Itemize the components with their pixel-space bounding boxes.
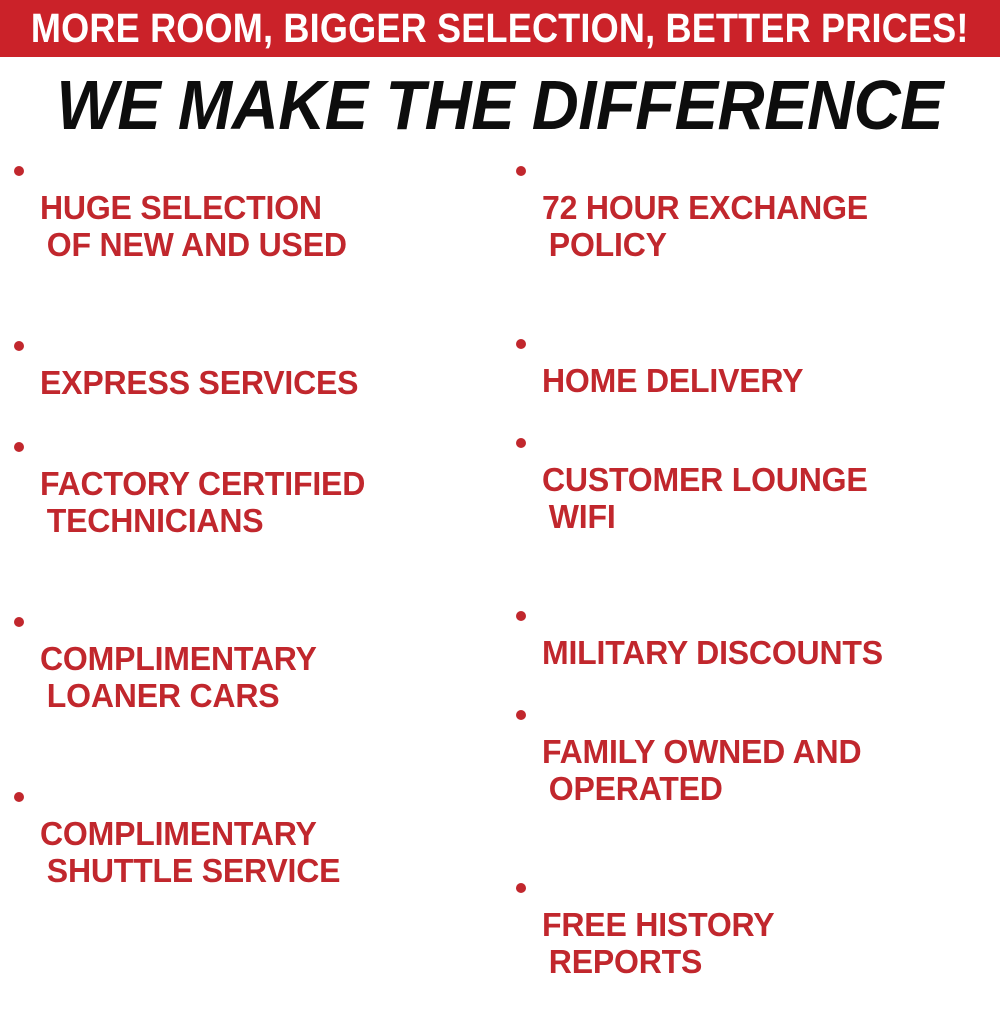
list-item-label: 72 HOUR EXCHANGE POLICY — [542, 152, 868, 300]
list-item-label: CUSTOMER LOUNGE WIFI — [542, 424, 868, 572]
list-item-line2: REPORTS — [542, 943, 774, 980]
bullet-dot-icon — [14, 617, 24, 627]
list-item-label: EXPRESS SERVICES — [40, 327, 358, 401]
list-item-label: HUGE SELECTION OF NEW AND USED — [40, 152, 347, 300]
bullet-dot-icon — [516, 611, 526, 621]
bullet-dot-icon — [516, 883, 526, 893]
list-item: HOME DELIVERY — [516, 325, 1000, 399]
list-item: 72 HOUR EXCHANGE POLICY — [516, 152, 1000, 300]
list-item: FREE HISTORY REPORTS — [516, 869, 1000, 1017]
list-item-line1: EXPRESS SERVICES — [40, 364, 358, 401]
benefits-column-right: 72 HOUR EXCHANGE POLICY HOME DELIVERY CU… — [516, 152, 1000, 694]
list-item-line1: MILITARY DISCOUNTS — [542, 634, 883, 671]
list-item-line1: COMPLIMENTARY — [40, 640, 317, 677]
list-item-line1: HUGE SELECTION — [40, 189, 322, 226]
list-item-line2: SHUTTLE SERVICE — [40, 852, 340, 889]
benefits-columns: HUGE SELECTION OF NEW AND USED EXPRESS S… — [0, 152, 1000, 694]
list-item-label: FAMILY OWNED AND OPERATED — [542, 696, 861, 844]
list-item-line2: POLICY — [542, 226, 868, 263]
list-item-line1: COMPLIMENTARY — [40, 815, 317, 852]
list-item-label: COMPLIMENTARY SHUTTLE SERVICE — [40, 778, 340, 926]
list-item: HUGE SELECTION OF NEW AND USED — [14, 152, 494, 300]
list-item: COMPLIMENTARY SHUTTLE SERVICE — [14, 778, 494, 926]
list-item-line2: OPERATED — [542, 770, 861, 807]
list-item-label: MILITARY DISCOUNTS — [542, 597, 883, 671]
promo-poster: MORE ROOM, BIGGER SELECTION, BETTER PRIC… — [0, 0, 1000, 694]
bullet-dot-icon — [516, 438, 526, 448]
list-item-line2: LOANER CARS — [40, 677, 317, 714]
list-item-line2: WIFI — [542, 498, 868, 535]
top-banner: MORE ROOM, BIGGER SELECTION, BETTER PRIC… — [0, 0, 1000, 57]
bullet-dot-icon — [14, 166, 24, 176]
top-banner-text: MORE ROOM, BIGGER SELECTION, BETTER PRIC… — [31, 8, 969, 49]
list-item-line2: OF NEW AND USED — [40, 226, 347, 263]
page-title: WE MAKE THE DIFFERENCE — [57, 70, 944, 140]
list-item-line1: FREE HISTORY — [542, 906, 774, 943]
list-item-line2: TECHNICIANS — [40, 502, 365, 539]
list-item: FACTORY CERTIFIED TECHNICIANS — [14, 428, 494, 576]
list-item-line1: FAMILY OWNED AND — [542, 733, 861, 770]
list-item-line1: CUSTOMER LOUNGE — [542, 461, 868, 498]
list-item: MILITARY DISCOUNTS — [516, 597, 1000, 671]
bullet-dot-icon — [14, 442, 24, 452]
list-item-label: HOME DELIVERY — [542, 325, 803, 399]
bullet-dot-icon — [516, 710, 526, 720]
bullet-dot-icon — [14, 792, 24, 802]
bullet-dot-icon — [516, 339, 526, 349]
list-item: CUSTOMER LOUNGE WIFI — [516, 424, 1000, 572]
list-item-label: FACTORY CERTIFIED TECHNICIANS — [40, 428, 365, 576]
list-item-label: FREE HISTORY REPORTS — [542, 869, 774, 1017]
list-item-line1: FACTORY CERTIFIED — [40, 465, 365, 502]
list-item-line1: HOME DELIVERY — [542, 362, 803, 399]
benefits-column-left: HUGE SELECTION OF NEW AND USED EXPRESS S… — [14, 152, 494, 694]
bullet-dot-icon — [516, 166, 526, 176]
headline-container: WE MAKE THE DIFFERENCE — [0, 68, 1000, 142]
list-item: FAMILY OWNED AND OPERATED — [516, 696, 1000, 844]
list-item-label: COMPLIMENTARY LOANER CARS — [40, 603, 317, 751]
bullet-dot-icon — [14, 341, 24, 351]
list-item-line1: 72 HOUR EXCHANGE — [542, 189, 868, 226]
list-item: COMPLIMENTARY LOANER CARS — [14, 603, 494, 751]
list-item: EXPRESS SERVICES — [14, 327, 494, 401]
